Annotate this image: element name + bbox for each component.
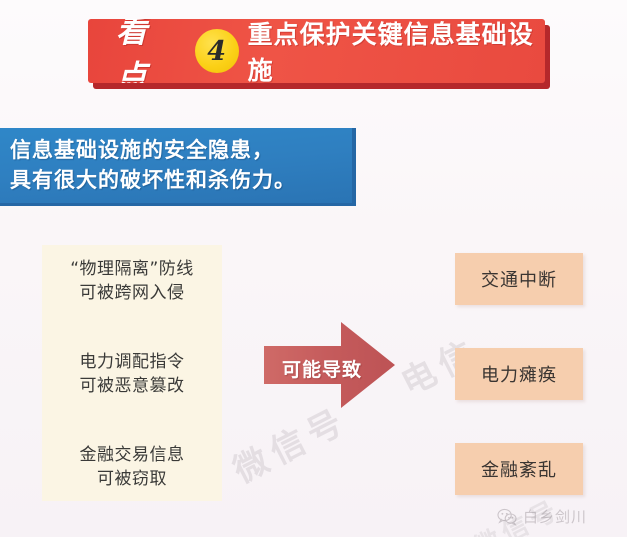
arrow-label: 可能导致 bbox=[282, 355, 362, 382]
flow-arrow: 可能导致 bbox=[264, 316, 396, 414]
banner-kandian-label: 看点 bbox=[116, 19, 185, 83]
infographic-page: 微信号 电信 微信号 看点 4 重点保护关键信息基础设施 信息基础设施的安全隐患… bbox=[0, 0, 627, 537]
cause-item: “物理隔离”防线 可被跨网入侵 bbox=[42, 257, 222, 305]
effect-label: 电力瘫痪 bbox=[481, 361, 557, 387]
banner-number-circle: 4 bbox=[195, 29, 239, 73]
callout-line-1: 信息基础设施的安全隐患， bbox=[10, 136, 352, 165]
effect-box: 交通中断 bbox=[455, 253, 583, 305]
cause-item: 金融交易信息 可被窃取 bbox=[42, 443, 222, 491]
effect-box: 电力瘫痪 bbox=[455, 348, 583, 400]
cause-item: 电力调配指令 可被恶意篡改 bbox=[42, 350, 222, 398]
callout-line-2: 具有很大的破坏性和杀伤力。 bbox=[10, 166, 352, 195]
cause-line-2: 可被跨网入侵 bbox=[42, 281, 222, 305]
cause-line-2: 可被恶意篡改 bbox=[42, 374, 222, 398]
effect-box: 金融紊乱 bbox=[455, 443, 583, 495]
banner-bar: 看点 4 重点保护关键信息基础设施 bbox=[88, 19, 545, 83]
callout-box: 信息基础设施的安全隐患， 具有很大的破坏性和杀伤力。 bbox=[0, 128, 356, 206]
header-banner: 看点 4 重点保护关键信息基础设施 bbox=[88, 19, 545, 83]
cause-line-1: 金融交易信息 bbox=[80, 445, 185, 465]
effect-label: 金融紊乱 bbox=[481, 456, 557, 482]
cause-line-1: “物理隔离”防线 bbox=[70, 259, 194, 279]
banner-number: 4 bbox=[207, 38, 226, 65]
wechat-icon bbox=[497, 508, 517, 526]
banner-title: 重点保护关键信息基础设施 bbox=[248, 19, 545, 83]
causes-panel: “物理隔离”防线 可被跨网入侵 电力调配指令 可被恶意篡改 金融交易信息 可被窃… bbox=[42, 245, 222, 501]
effect-label: 交通中断 bbox=[481, 266, 557, 292]
footer-account-badge: 白乡剑川 bbox=[497, 506, 587, 527]
cause-line-2: 可被窃取 bbox=[42, 467, 222, 491]
cause-line-1: 电力调配指令 bbox=[80, 352, 185, 372]
footer-account-name: 白乡剑川 bbox=[523, 506, 587, 527]
